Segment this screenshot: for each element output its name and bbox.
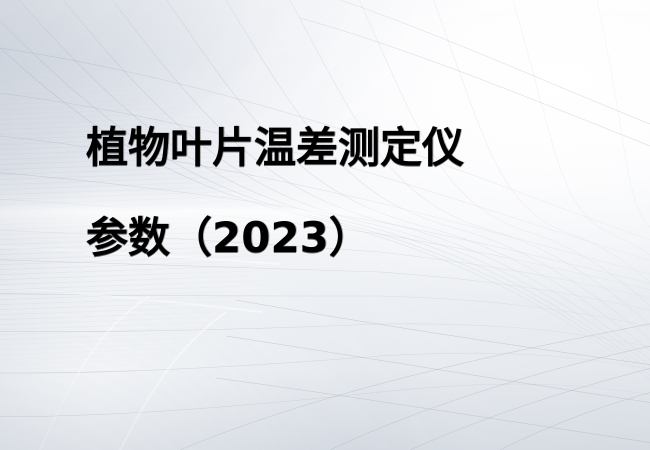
- page-title: 植物叶片温差测定仪 参数（2023）: [86, 124, 586, 262]
- title-slide: 植物叶片温差测定仪 参数（2023）: [0, 0, 650, 450]
- title-line-1: 植物叶片温差测定仪: [86, 124, 586, 172]
- title-line-2: 参数（2023）: [86, 214, 586, 262]
